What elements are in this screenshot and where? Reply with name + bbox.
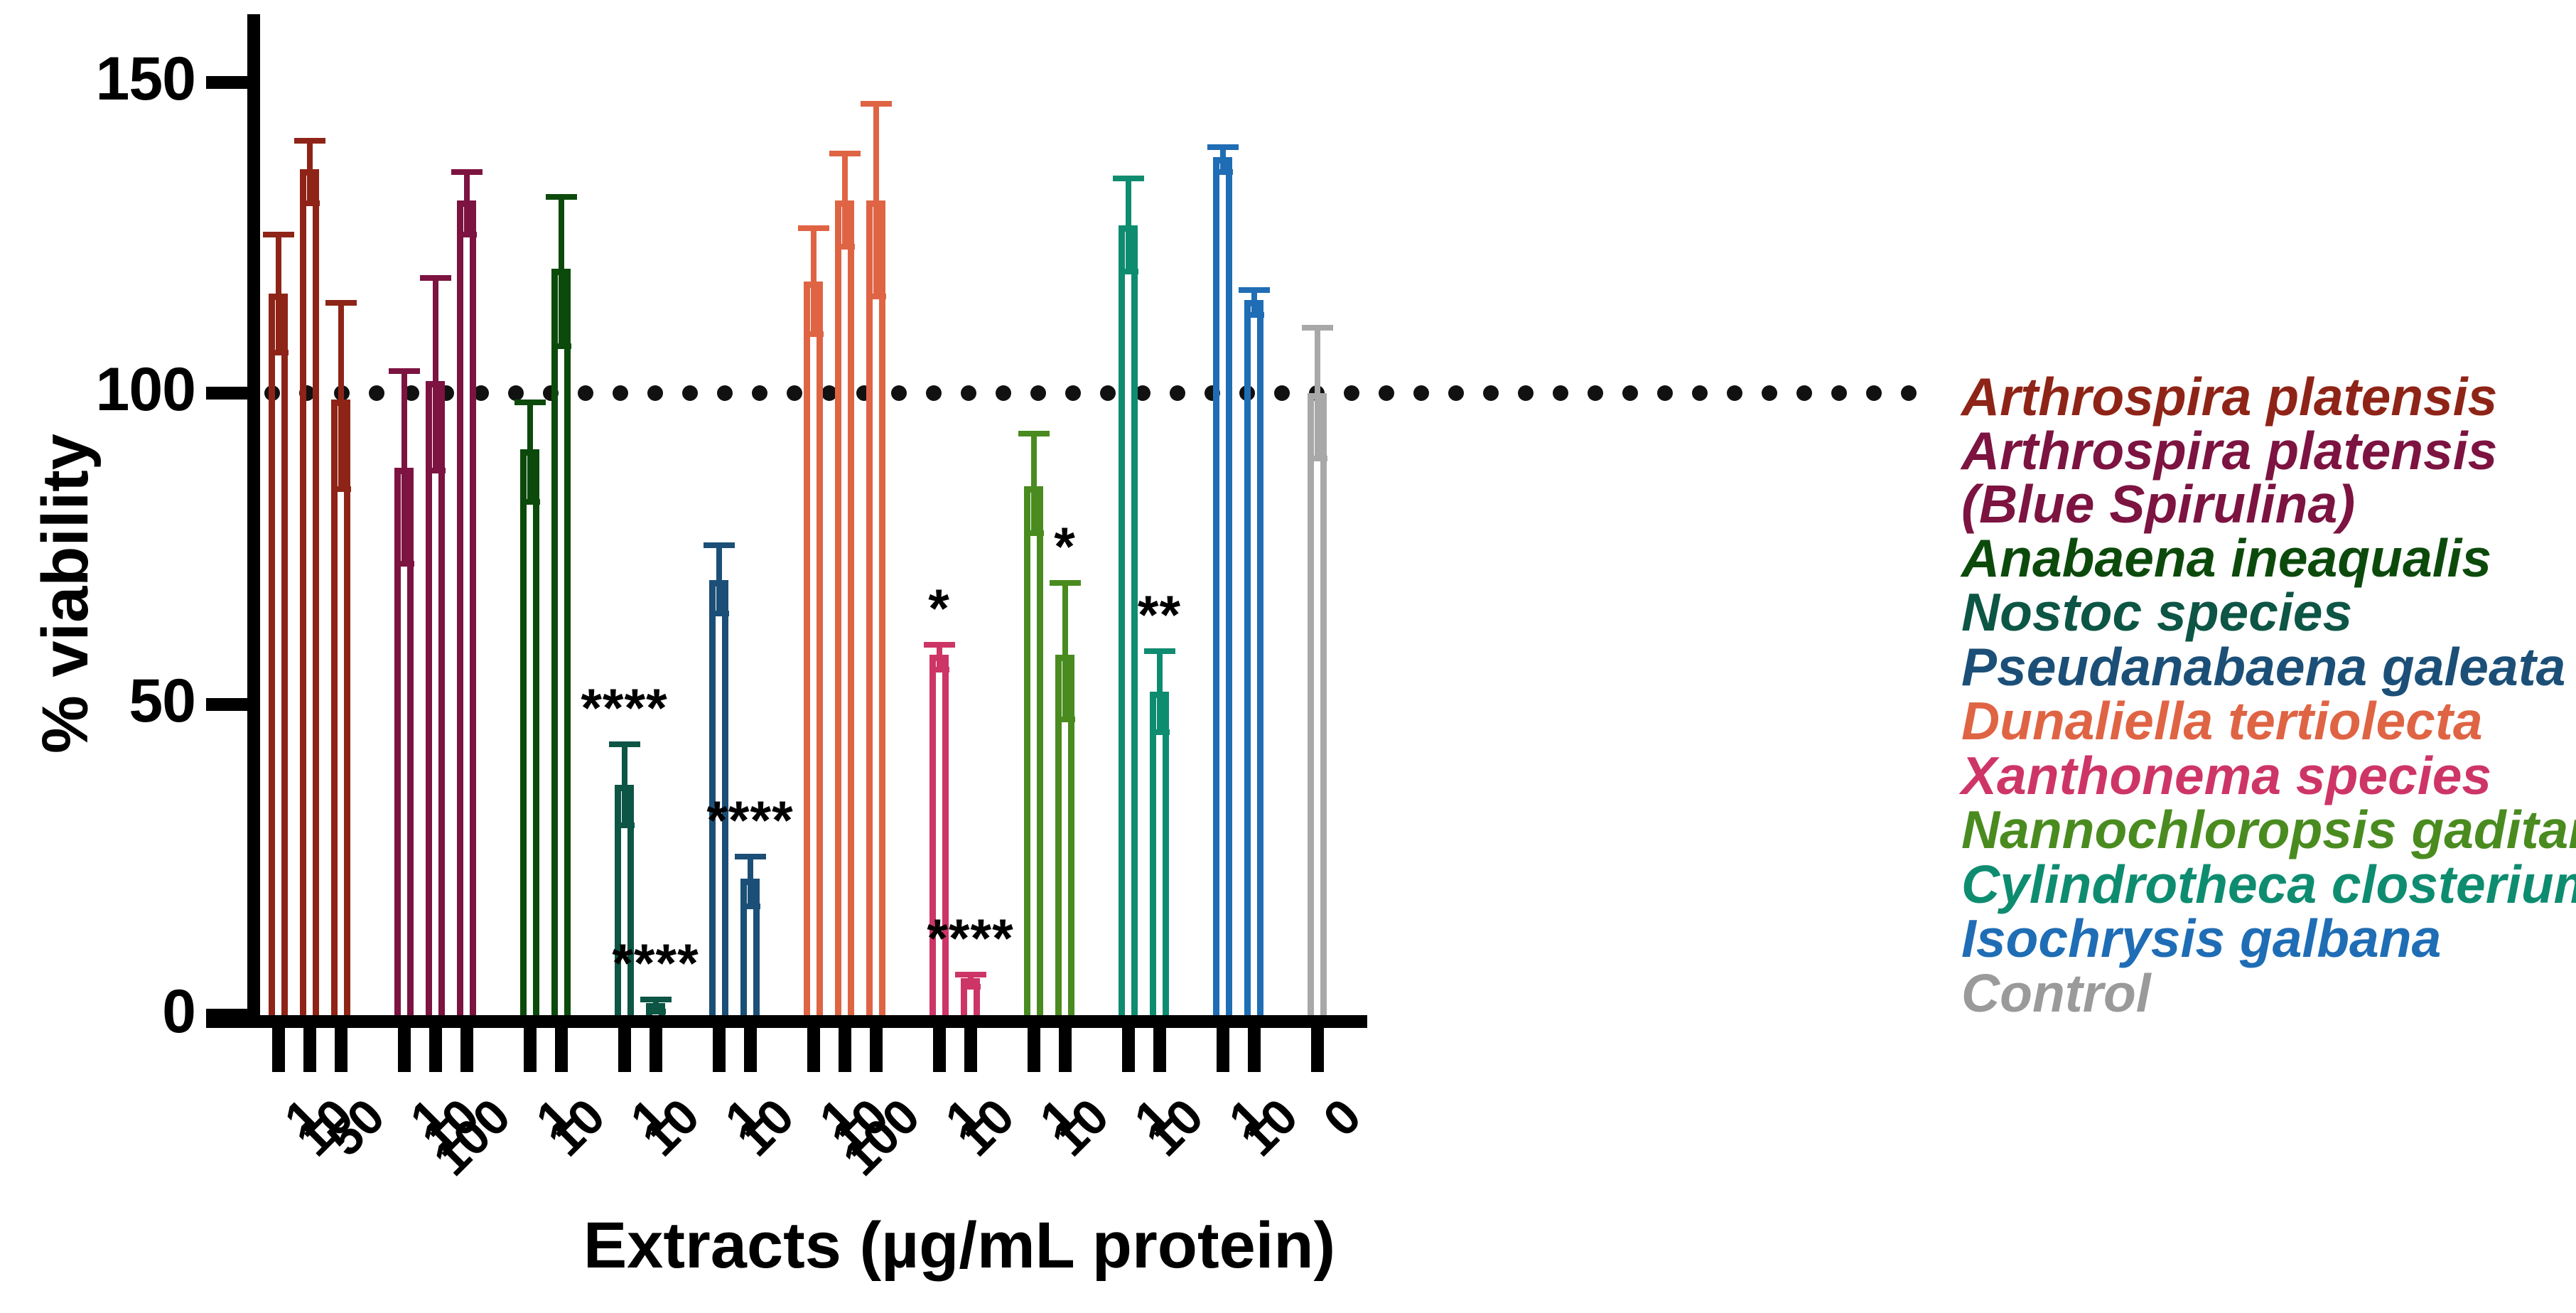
error-bar-cap-upper <box>640 997 672 1002</box>
error-bar-cap-upper <box>1018 431 1050 436</box>
significance-marker: * <box>847 582 1032 636</box>
error-bar-cap-upper <box>294 138 325 144</box>
error-bar-cap-lower <box>866 294 886 299</box>
reference-line-dot <box>891 385 907 401</box>
error-bar-upper <box>1157 648 1163 692</box>
error-bar-cap-upper <box>325 300 357 306</box>
error-bar-cap-lower <box>804 331 824 337</box>
error-bar-upper <box>873 101 879 200</box>
x-axis-title: Extracts (µg/mL protein) <box>284 1209 1634 1283</box>
bar <box>551 269 571 1015</box>
legend-item-8: Cylindrotheca closterium <box>1961 857 2576 912</box>
error-bar-cap-lower <box>961 984 981 990</box>
reference-line-dot <box>1727 385 1742 401</box>
reference-line-dot <box>1588 385 1603 401</box>
reference-line-dot <box>1901 385 1917 401</box>
error-bar-cap-upper <box>263 232 294 237</box>
legend-item-6: Xanthonema species <box>1961 749 2576 803</box>
x-tick <box>870 1028 883 1072</box>
error-bar-cap-upper <box>609 741 640 747</box>
legend-item-3: Nostoc species <box>1961 585 2576 640</box>
reference-line-dot <box>1170 385 1185 401</box>
error-bar-upper <box>622 741 627 785</box>
error-bar-lower <box>937 655 942 668</box>
error-bar-upper <box>433 275 438 381</box>
x-tick <box>618 1028 631 1072</box>
legend-item-label: Cylindrotheca closterium <box>1961 857 2576 912</box>
error-bar-cap-upper <box>1239 287 1270 293</box>
error-bar-cap-upper <box>955 972 986 977</box>
error-bar-upper <box>276 232 281 294</box>
error-bar-cap-lower <box>835 244 855 250</box>
x-tick <box>713 1028 726 1072</box>
bar <box>300 169 319 1015</box>
error-bar-cap-lower <box>1213 169 1233 175</box>
reference-line-dot <box>1065 385 1081 401</box>
error-bar-lower <box>873 200 879 294</box>
reference-line-dot <box>1553 385 1568 401</box>
x-tick <box>1248 1028 1261 1072</box>
bar <box>1213 157 1232 1016</box>
error-bar-lower <box>433 381 438 468</box>
error-bar-cap-lower <box>1308 456 1327 461</box>
legend-item-10: Control <box>1961 966 2576 1021</box>
x-tick <box>1217 1028 1229 1072</box>
legend-item-label: Pseudanabaena galeata <box>1961 640 2576 695</box>
error-bar-lower <box>1126 225 1131 269</box>
legend-item-4: Pseudanabaena galeata <box>1961 640 2576 695</box>
reference-line-dot <box>1657 385 1673 401</box>
legend-item-label: (Blue Spirulina) <box>1961 478 2576 531</box>
error-bar-lower <box>716 580 722 611</box>
error-bar-cap-upper <box>514 400 546 405</box>
x-tick <box>272 1028 285 1072</box>
error-bar-cap-lower <box>300 200 320 206</box>
error-bar-lower <box>338 400 344 487</box>
reference-line-dot <box>508 385 524 401</box>
error-bar-cap-upper <box>451 169 483 175</box>
error-bar-lower <box>1315 393 1320 456</box>
legend-item-0: Arthrospira platensis <box>1961 370 2576 424</box>
bar <box>269 294 288 1015</box>
reference-line-dot <box>1379 385 1394 401</box>
error-bar-lower <box>748 879 753 904</box>
legend-item-label: Isochrysis galbana <box>1961 911 2576 966</box>
reference-line-dot <box>926 385 942 401</box>
error-bar-cap-upper <box>389 368 420 374</box>
error-bar-cap-lower <box>394 561 414 567</box>
error-bar-cap-lower <box>331 486 351 492</box>
error-bar-lower <box>1251 300 1257 313</box>
reference-line-dot <box>961 385 976 401</box>
y-tick-50 <box>206 698 250 711</box>
x-tick <box>335 1028 347 1072</box>
error-bar-lower <box>527 449 533 499</box>
x-tick <box>1311 1028 1324 1072</box>
legend-item-label: Nostoc species <box>1961 585 2576 640</box>
x-tick <box>398 1028 411 1072</box>
x-tick <box>1059 1028 1072 1072</box>
error-bar-lower <box>653 1003 659 1009</box>
legend: Arthrospira platensisArthrospira platens… <box>1961 370 2576 1020</box>
reference-line-dot <box>1030 385 1046 401</box>
error-bar-upper <box>402 368 407 468</box>
legend-item-label: Arthrospira platensis <box>1961 370 2576 424</box>
error-bar-cap-upper <box>861 101 892 107</box>
error-bar-cap-upper <box>420 275 451 281</box>
error-bar-lower <box>276 294 281 350</box>
error-bar-cap-lower <box>1119 269 1138 274</box>
reference-line-dot <box>613 385 628 401</box>
legend-item-label: Xanthonema species <box>1961 749 2576 803</box>
reference-line-dot <box>752 385 767 401</box>
chart-figure: % viability Extracts (µg/mL protein) 150… <box>0 0 2576 1313</box>
error-bar-lower <box>1157 692 1163 729</box>
reference-line-dot <box>1866 385 1882 401</box>
x-tick <box>1122 1028 1135 1072</box>
error-bar-cap-lower <box>520 499 540 505</box>
bar <box>457 200 476 1015</box>
x-tick <box>650 1028 662 1072</box>
error-bar-lower <box>1220 157 1226 170</box>
reference-line-dot <box>1100 385 1116 401</box>
error-bar-cap-upper <box>546 194 577 200</box>
y-tick-150 <box>206 76 250 89</box>
error-bar-upper <box>842 151 848 200</box>
error-bar-cap-upper <box>1144 648 1175 654</box>
error-bar-upper <box>1126 176 1131 225</box>
error-bar-cap-upper <box>735 854 766 859</box>
x-tick <box>555 1028 568 1072</box>
error-bar-lower <box>968 978 974 985</box>
bar <box>804 282 823 1016</box>
reference-line-dot <box>717 385 733 401</box>
x-tick <box>807 1028 820 1072</box>
error-bar-cap-lower <box>1244 312 1264 318</box>
reference-line-dot <box>1796 385 1812 401</box>
error-bar-cap-lower <box>551 343 571 349</box>
error-bar-upper <box>1031 431 1037 487</box>
x-tick <box>1153 1028 1166 1072</box>
x-tick <box>524 1028 537 1072</box>
x-tick <box>303 1028 316 1072</box>
error-bar-lower <box>559 269 564 343</box>
error-bar-upper <box>811 225 817 282</box>
y-tick-100 <box>206 387 250 400</box>
legend-item-label: Anabaena ineaqualis <box>1961 531 2576 586</box>
error-bar-lower <box>842 200 848 244</box>
error-bar-lower <box>811 282 817 331</box>
error-bar-cap-lower <box>929 667 949 672</box>
reference-line-dot <box>1413 385 1429 401</box>
x-tick <box>1028 1028 1040 1072</box>
reference-line-dot <box>1518 385 1534 401</box>
reference-line-dot <box>1831 385 1847 401</box>
y-tick-label-0: 0 <box>43 981 195 1042</box>
y-tick-label-100: 100 <box>43 359 195 420</box>
reference-line-dot <box>1483 385 1499 401</box>
x-tick <box>744 1028 757 1072</box>
x-tick <box>839 1028 851 1072</box>
error-bar-cap-lower <box>615 822 635 828</box>
bar <box>1150 692 1169 1015</box>
legend-item-9: Isochrysis galbana <box>1961 911 2576 966</box>
error-bar-cap-lower <box>1150 729 1170 735</box>
reference-line-dot <box>996 385 1011 401</box>
legend-item-7: Nannochloropsis gaditana <box>1961 803 2576 857</box>
error-bar-lower <box>307 169 313 200</box>
reference-line-dot <box>1692 385 1708 401</box>
error-bar-upper <box>559 194 564 269</box>
bar <box>1244 300 1263 1015</box>
error-bar-cap-upper <box>1050 580 1081 586</box>
legend-item-5: Dunaliella tertiolecta <box>1961 694 2576 749</box>
reference-line-dot <box>578 385 593 401</box>
reference-line-dot <box>1622 385 1638 401</box>
reference-line-dot <box>1344 385 1359 401</box>
reference-line-dot <box>1274 385 1290 401</box>
x-tick <box>964 1028 977 1072</box>
error-bar-upper <box>338 300 344 400</box>
error-bar-cap-lower <box>1055 717 1075 722</box>
error-bar-cap-upper <box>1302 325 1333 331</box>
bar <box>426 381 445 1016</box>
error-bar-cap-lower <box>646 1009 666 1014</box>
reference-line-dot <box>682 385 698 401</box>
error-bar-cap-upper <box>704 542 735 548</box>
error-bar-cap-lower <box>740 904 760 909</box>
y-tick-label-50: 50 <box>43 670 195 731</box>
reference-line-dot <box>1448 385 1464 401</box>
error-bar-lower <box>402 468 407 561</box>
error-bar-cap-upper <box>1207 144 1239 150</box>
x-tick <box>460 1028 473 1072</box>
error-bar-cap-upper <box>798 225 829 231</box>
x-tick <box>933 1028 946 1072</box>
y-axis-line <box>247 14 260 1027</box>
legend-item-1: Arthrospira platensis(Blue Spirulina) <box>1961 424 2576 531</box>
x-axis-baseline <box>206 1015 1367 1028</box>
reference-line-dot <box>787 385 802 401</box>
error-bar-cap-lower <box>457 232 477 237</box>
reference-line-dot <box>647 385 663 401</box>
x-tick <box>429 1028 442 1072</box>
legend-item-label: Nannochloropsis gaditana <box>1961 803 2576 857</box>
legend-item-label: Arthrospira platensis <box>1961 424 2576 478</box>
error-bar-upper <box>527 400 533 449</box>
reference-line-dot <box>1762 385 1777 401</box>
y-tick-label-150: 150 <box>43 48 195 109</box>
reference-line-dot <box>369 385 384 401</box>
error-bar-lower <box>622 785 627 822</box>
error-bar-cap-lower <box>709 611 729 616</box>
error-bar-cap-lower <box>269 350 289 355</box>
error-bar-cap-lower <box>426 468 446 473</box>
error-bar-cap-upper <box>924 642 955 648</box>
legend-item-2: Anabaena ineaqualis <box>1961 531 2576 586</box>
error-bar-cap-upper <box>1113 176 1144 181</box>
error-bar-cap-upper <box>829 151 861 156</box>
bar <box>1308 393 1327 1015</box>
error-bar-lower <box>464 200 470 232</box>
legend-item-label: Dunaliella tertiolecta <box>1961 694 2576 749</box>
legend-item-label: Control <box>1961 966 2576 1021</box>
error-bar-lower <box>1062 655 1068 717</box>
significance-marker: **** <box>532 682 717 736</box>
error-bar-upper <box>1315 325 1320 393</box>
